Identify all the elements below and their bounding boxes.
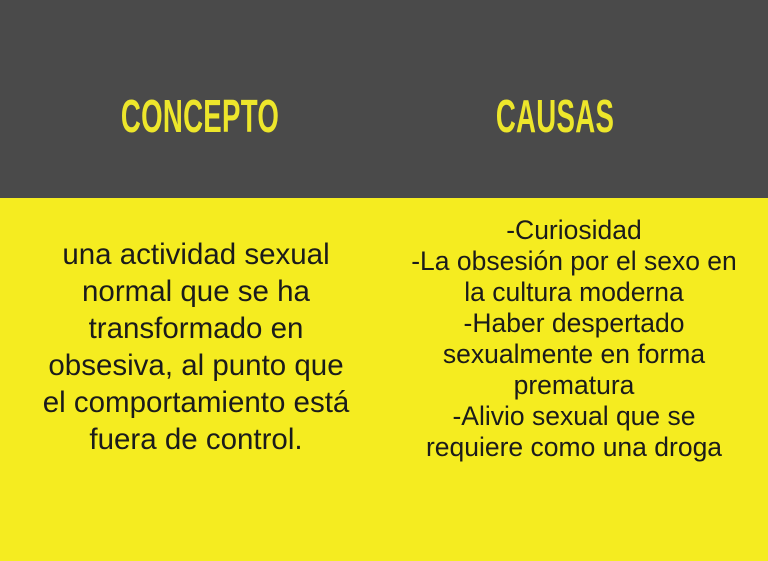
column-causas-text: -Curiosidad -La obsesión por el sexo en … [394,198,754,463]
column-concepto-text: una actividad sexual normal que se ha tr… [14,198,378,458]
text-line: -Curiosidad [394,215,754,246]
text-line: fuera de control. [14,421,378,458]
text-line: el comportamiento está [14,384,378,421]
text-line: -Haber despertado [394,308,754,339]
text-line: prematura [394,370,754,401]
text-line: la cultura moderna [394,277,754,308]
text-line: una actividad sexual [14,236,378,273]
text-line: transformado en [14,310,378,347]
text-line: obsesiva, al punto que [14,347,378,384]
header-band: CONCEPTO CAUSAS [0,0,768,198]
text-line: -La obsesión por el sexo en [394,246,754,277]
text-line: -Alivio sexual que se [394,401,754,432]
heading-causas: CAUSAS [435,92,675,140]
heading-concepto: CONCEPTO [80,92,320,140]
slide-root: CONCEPTO CAUSAS una actividad sexual nor… [0,0,768,561]
text-line: normal que se ha [14,273,378,310]
text-line: sexualmente en forma [394,339,754,370]
text-line: requiere como una droga [394,432,754,463]
body-area: una actividad sexual normal que se ha tr… [0,198,768,561]
